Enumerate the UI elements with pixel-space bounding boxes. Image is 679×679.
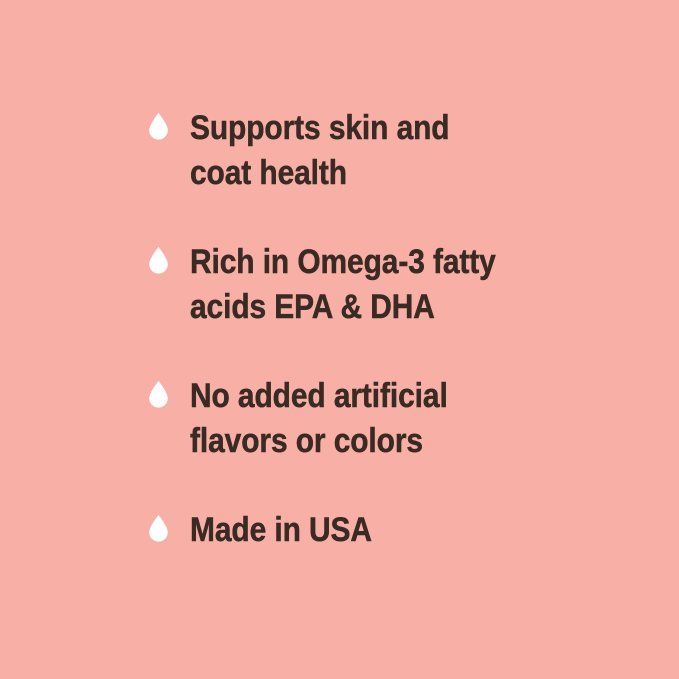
benefit-text: No added artificial flavors or colors bbox=[190, 374, 558, 464]
benefit-item: Made in USA bbox=[148, 508, 608, 553]
water-drop-icon bbox=[148, 247, 169, 274]
benefit-text: Supports skin and coat health bbox=[190, 106, 558, 196]
benefit-list: Supports skin and coat health Rich in Om… bbox=[148, 106, 608, 553]
benefit-text: Made in USA bbox=[190, 508, 558, 553]
water-drop-icon bbox=[148, 113, 169, 140]
benefit-item: No added artificial flavors or colors bbox=[148, 374, 608, 464]
benefit-item: Supports skin and coat health bbox=[148, 106, 608, 196]
benefit-text: Rich in Omega-3 fatty acids EPA & DHA bbox=[190, 240, 558, 330]
benefits-panel: Supports skin and coat health Rich in Om… bbox=[0, 0, 679, 679]
benefit-item: Rich in Omega-3 fatty acids EPA & DHA bbox=[148, 240, 608, 330]
water-drop-icon bbox=[148, 515, 169, 542]
water-drop-icon bbox=[148, 381, 169, 408]
